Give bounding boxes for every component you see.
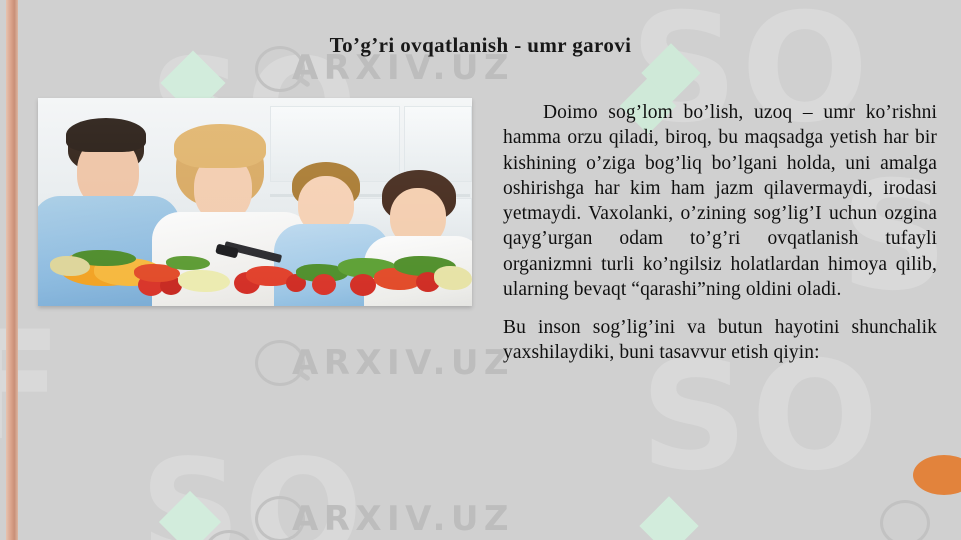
search-icon (255, 496, 305, 540)
body-text-column: Doimo sog’lom bo’lish, uzoq – umr ko’ris… (503, 100, 937, 379)
watermark-site-text: ARXIV.UZ (292, 499, 514, 539)
watermark-diamond-icon (639, 496, 698, 540)
left-accent-stripe (6, 0, 18, 540)
watermark-site-text: ARXIV.UZ (292, 343, 514, 383)
search-icon (880, 500, 930, 540)
slide-title: To’g’ri ovqatlanish - umr garovi (0, 33, 961, 58)
watermark-brand-text: SO (140, 430, 365, 540)
family-photo (38, 98, 472, 306)
slide-canvas: SO SO SO SO S F ARXIV.UZ ARXIV.UZ ARXIV.… (0, 0, 961, 540)
search-icon (255, 340, 305, 386)
watermark-diamond-icon (159, 491, 221, 540)
search-icon (204, 530, 254, 540)
search-icon-handle (293, 367, 311, 381)
family-photo-content (38, 98, 472, 306)
search-icon-handle (293, 73, 311, 87)
photo-sheen (38, 98, 472, 306)
body-paragraph-1: Doimo sog’lom bo’lish, uzoq – umr ko’ris… (503, 100, 937, 302)
body-paragraph-2: Bu inson sog’lig’ini va butun hayotini s… (503, 315, 937, 366)
orange-accent-ellipse (913, 455, 961, 495)
